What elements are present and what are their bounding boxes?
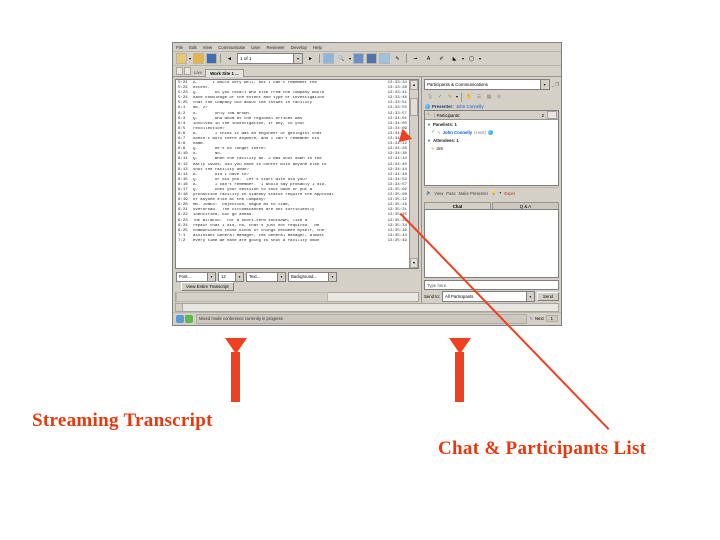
highlight-icon[interactable]: ✐ <box>436 53 447 64</box>
minimize-icon[interactable]: _ <box>552 82 554 88</box>
check-icon[interactable]: ✓ <box>436 93 444 101</box>
chevron-down-icon[interactable]: ▼ <box>427 138 431 143</box>
participants-header-label: Participants: <box>434 113 539 118</box>
live-label: Live <box>194 70 202 75</box>
transcript-pane: 5:21A. I would very well, but I can't re… <box>173 77 422 303</box>
menu-item-user[interactable]: User <box>251 45 260 50</box>
eraser-icon[interactable]: ◣ <box>449 53 460 64</box>
window-horizontal-scrollbar[interactable] <box>175 303 559 312</box>
tab-prev-icon[interactable] <box>176 67 183 75</box>
application-window: File Edit View Communicate User Reviewer… <box>172 42 562 326</box>
scroll-thumb[interactable] <box>176 292 328 302</box>
pen-icon: ✎ <box>530 316 534 321</box>
annotation-chat-participants-list: Chat & Participants List <box>438 438 646 460</box>
participant-role: (Host) <box>474 130 486 135</box>
zoom-icon[interactable]: 🔍 <box>336 53 347 64</box>
participants-count: 2 <box>542 113 544 118</box>
participants-list-header: ✎ Participants: 2 <box>425 111 558 120</box>
main-toolbar: ▾ ◄ 1 of 1 ▾ ► 🔍 ▾ ✎ ➟ A ✐ ◣ ▾ ◯ ▾ <box>173 52 561 66</box>
pen-icon: ✎ <box>427 112 431 118</box>
folder-icon[interactable] <box>193 53 204 64</box>
arrow-shaft-transcript <box>231 352 240 402</box>
presenter-row: Presenter: John Connelly <box>424 102 559 110</box>
panel-title-value: Participants & Communications <box>427 82 488 87</box>
grid-icon[interactable] <box>353 53 364 64</box>
chevron-down-icon[interactable]: ▾ <box>499 191 501 195</box>
presenter-label: Presenter: <box>432 104 454 109</box>
mic-icon[interactable]: 🎙 <box>426 93 434 101</box>
expel-label[interactable]: Expel <box>504 191 514 196</box>
scroll-thumb[interactable] <box>410 98 418 116</box>
menu-item-view[interactable]: View <box>203 45 212 50</box>
view-label[interactable]: View <box>434 191 443 196</box>
panel-window-controls[interactable]: _ ❐ <box>552 82 559 88</box>
transcript-line: 7:2every time we have are going to shut … <box>178 239 407 244</box>
transcript-horizontal-scrollbar[interactable] <box>175 292 419 302</box>
format-toolbar: Font... ▾ 12 ▾ Text... ▾ Background... ▾ <box>173 271 421 282</box>
window-body: 5:21A. I would very well, but I can't re… <box>173 77 561 303</box>
transcript-line-timestamp: 13:35:49 <box>377 239 407 244</box>
pen-icon: ✎ <box>437 130 440 135</box>
text-color-select[interactable]: Text... ▾ <box>246 272 286 282</box>
make-presenter-label[interactable]: Make Presenter <box>459 191 489 196</box>
arrow-head-transcript <box>225 338 247 354</box>
view-entire-transcript-button[interactable]: View Entire Transcript <box>181 282 234 291</box>
participants-secondary-toolbar: 🔈 View Pass Make Presenter 💡 ▾ Expel <box>424 187 559 198</box>
clock-icon[interactable]: ◯ <box>466 53 477 64</box>
participant-name: John Connelly <box>443 130 473 135</box>
text-color-value: Text... <box>249 274 260 279</box>
chevron-down-icon[interactable]: ▾ <box>526 292 534 301</box>
send-to-label: Send to: <box>424 294 440 299</box>
background-color-select[interactable]: Background... ▾ <box>288 272 337 282</box>
globe-icon <box>425 104 430 109</box>
globe-icon <box>185 315 193 323</box>
list-icon[interactable]: ☰ <box>475 93 483 101</box>
background-color-value: Background... <box>291 274 317 279</box>
transcript-viewport: 5:21A. I would very well, but I can't re… <box>175 79 419 269</box>
pen-icon[interactable]: ✎ <box>392 53 403 64</box>
arrow-icon[interactable]: ➟ <box>410 53 421 64</box>
chevron-down-icon[interactable]: ▾ <box>189 57 191 61</box>
bulb-icon[interactable]: 💡 <box>491 190 496 196</box>
restore-icon[interactable]: ❐ <box>555 82 559 88</box>
menu-item-file[interactable]: File <box>176 45 183 50</box>
send-to-select[interactable]: All Participants ▾ <box>442 291 535 302</box>
chevron-down-icon[interactable]: ▾ <box>328 273 336 281</box>
send-to-value: All Participants <box>445 294 473 299</box>
annotation-streaming-transcript: Streaming Transcript <box>32 410 213 432</box>
open-icon[interactable] <box>176 53 187 64</box>
status-next-label: Next <box>535 316 544 321</box>
page-view-icon[interactable] <box>366 53 377 64</box>
list-item[interactable]: ▼ Panelists: 1 <box>425 120 558 128</box>
document-tab-strip: Live Work Site 1 ... <box>173 66 561 77</box>
chevron-down-icon[interactable]: ▾ <box>456 95 458 99</box>
prev-page-icon[interactable]: ◄ <box>224 53 235 64</box>
menu-bar: File Edit View Communicate User Reviewer… <box>173 43 561 52</box>
tab-chat[interactable]: Chat <box>424 202 491 209</box>
chevron-down-icon[interactable]: ▾ <box>293 54 302 63</box>
save-icon[interactable] <box>206 53 217 64</box>
chevron-down-icon[interactable]: ▾ <box>540 80 549 89</box>
close-icon[interactable] <box>547 111 557 119</box>
transcript-line-number: 7:2 <box>178 239 193 244</box>
chevron-down-icon[interactable]: ▾ <box>349 57 351 61</box>
globe-icon <box>488 130 493 135</box>
text-icon[interactable]: A <box>423 53 434 64</box>
menu-item-communicate[interactable]: Communicate <box>218 45 245 50</box>
toolbar-separator <box>461 93 462 102</box>
send-button[interactable]: Send <box>537 292 559 301</box>
arrow-head-chat <box>449 338 471 354</box>
transcript-vertical-scrollbar[interactable]: ▲ ▼ <box>409 80 418 268</box>
transcript-text[interactable]: 5:21A. I would very well, but I can't re… <box>176 80 409 268</box>
pen-icon: ✎ <box>431 146 434 151</box>
arrow-shaft-chat <box>455 352 464 402</box>
copy-icon[interactable] <box>379 53 390 64</box>
tab-nav-buttons[interactable] <box>176 67 191 75</box>
panel-header: Participants & Communications ▾ _ ❐ <box>424 79 559 90</box>
participants-list[interactable]: ✎ Participants: 2 ▼ Panelists: 1 ✓ ✎ Joh… <box>424 110 559 186</box>
font-size-value: 12 <box>221 274 226 279</box>
toolbar-separator <box>406 54 407 63</box>
chevron-down-icon[interactable]: ▾ <box>479 57 481 61</box>
chat-input[interactable]: Type here. <box>424 280 559 290</box>
scroll-up-icon[interactable]: ▲ <box>410 80 418 90</box>
image-icon[interactable] <box>323 53 334 64</box>
chevron-down-icon[interactable]: ▾ <box>277 273 285 281</box>
font-select[interactable]: Font... ▾ <box>176 272 216 282</box>
chevron-down-icon[interactable]: ▾ <box>462 57 464 61</box>
list-item-label: Panelists: 1 <box>433 122 457 127</box>
menu-item-edit[interactable]: Edit <box>189 45 197 50</box>
check-icon: ✓ <box>431 129 435 135</box>
menu-item-help[interactable]: Help <box>313 45 322 50</box>
pen-icon[interactable]: ✎ <box>446 93 454 101</box>
scroll-down-icon[interactable]: ▼ <box>410 258 418 268</box>
presenter-name: John Connelly <box>456 104 484 109</box>
chat-send-row: Send to: All Participants ▾ Send <box>424 292 559 301</box>
transcript-line-text: every time we have are going to shut a f… <box>193 239 377 244</box>
font-size-select[interactable]: 12 ▾ <box>218 272 244 282</box>
list-item-label: Attendees: 1 <box>433 138 459 143</box>
chat-message-area[interactable] <box>424 209 559 278</box>
participant-name: Jim <box>436 146 443 151</box>
participants-toolbar: 🎙 ✓ ✎ ▾ ✋ ☰ ▦ ⊘ <box>424 92 559 102</box>
tab-qa[interactable]: Q & A <box>492 202 559 209</box>
toolbar-separator <box>319 54 320 63</box>
list-item[interactable]: ✎ Jim <box>425 144 558 152</box>
participants-communications-pane: Participants & Communications ▾ _ ❐ 🎙 ✓ … <box>422 77 561 303</box>
chevron-down-icon[interactable]: ▾ <box>235 273 243 281</box>
chat-input-placeholder: Type here. <box>427 283 447 288</box>
tab-label: Work Site 1 ... <box>210 71 239 76</box>
panel-title-select[interactable]: Participants & Communications ▾ <box>424 79 550 90</box>
font-select-value: Font... <box>179 274 191 279</box>
hand-icon[interactable]: ✋ <box>465 93 473 101</box>
next-page-icon[interactable]: ► <box>305 53 316 64</box>
list-item[interactable]: ▼ Attendees: 1 <box>425 136 558 144</box>
speaker-icon[interactable]: 🔈 <box>426 190 431 196</box>
menu-item-develop[interactable]: Develop <box>291 45 307 50</box>
status-pill: 1 <box>546 315 558 322</box>
status-right-group: ✎ Next 1 <box>530 315 558 322</box>
status-icon-group <box>176 315 193 323</box>
grid-icon[interactable]: ▦ <box>485 93 493 101</box>
chat-tab-strip: Chat Q & A <box>424 200 559 209</box>
network-icon <box>176 315 184 323</box>
tab-next-icon[interactable] <box>184 67 191 75</box>
page-number-value: 1 of 1 <box>240 56 252 61</box>
menu-item-reviewer[interactable]: Reviewer <box>266 45 284 50</box>
list-item[interactable]: ✓ ✎ John Connelly (Host) <box>425 128 558 136</box>
pass-label[interactable]: Pass <box>446 191 455 196</box>
toolbar-separator <box>220 54 221 63</box>
chevron-down-icon[interactable]: ▾ <box>207 273 215 281</box>
scroll-left-icon[interactable] <box>176 304 183 311</box>
chevron-down-icon[interactable]: ▼ <box>427 122 431 127</box>
expel-icon[interactable]: ⊘ <box>495 93 503 101</box>
status-message: Mixed mode conference currently in progr… <box>196 314 527 324</box>
page-number-input[interactable]: 1 of 1 ▾ <box>237 53 303 64</box>
tab-work-site-1[interactable]: Work Site 1 ... <box>205 69 244 77</box>
